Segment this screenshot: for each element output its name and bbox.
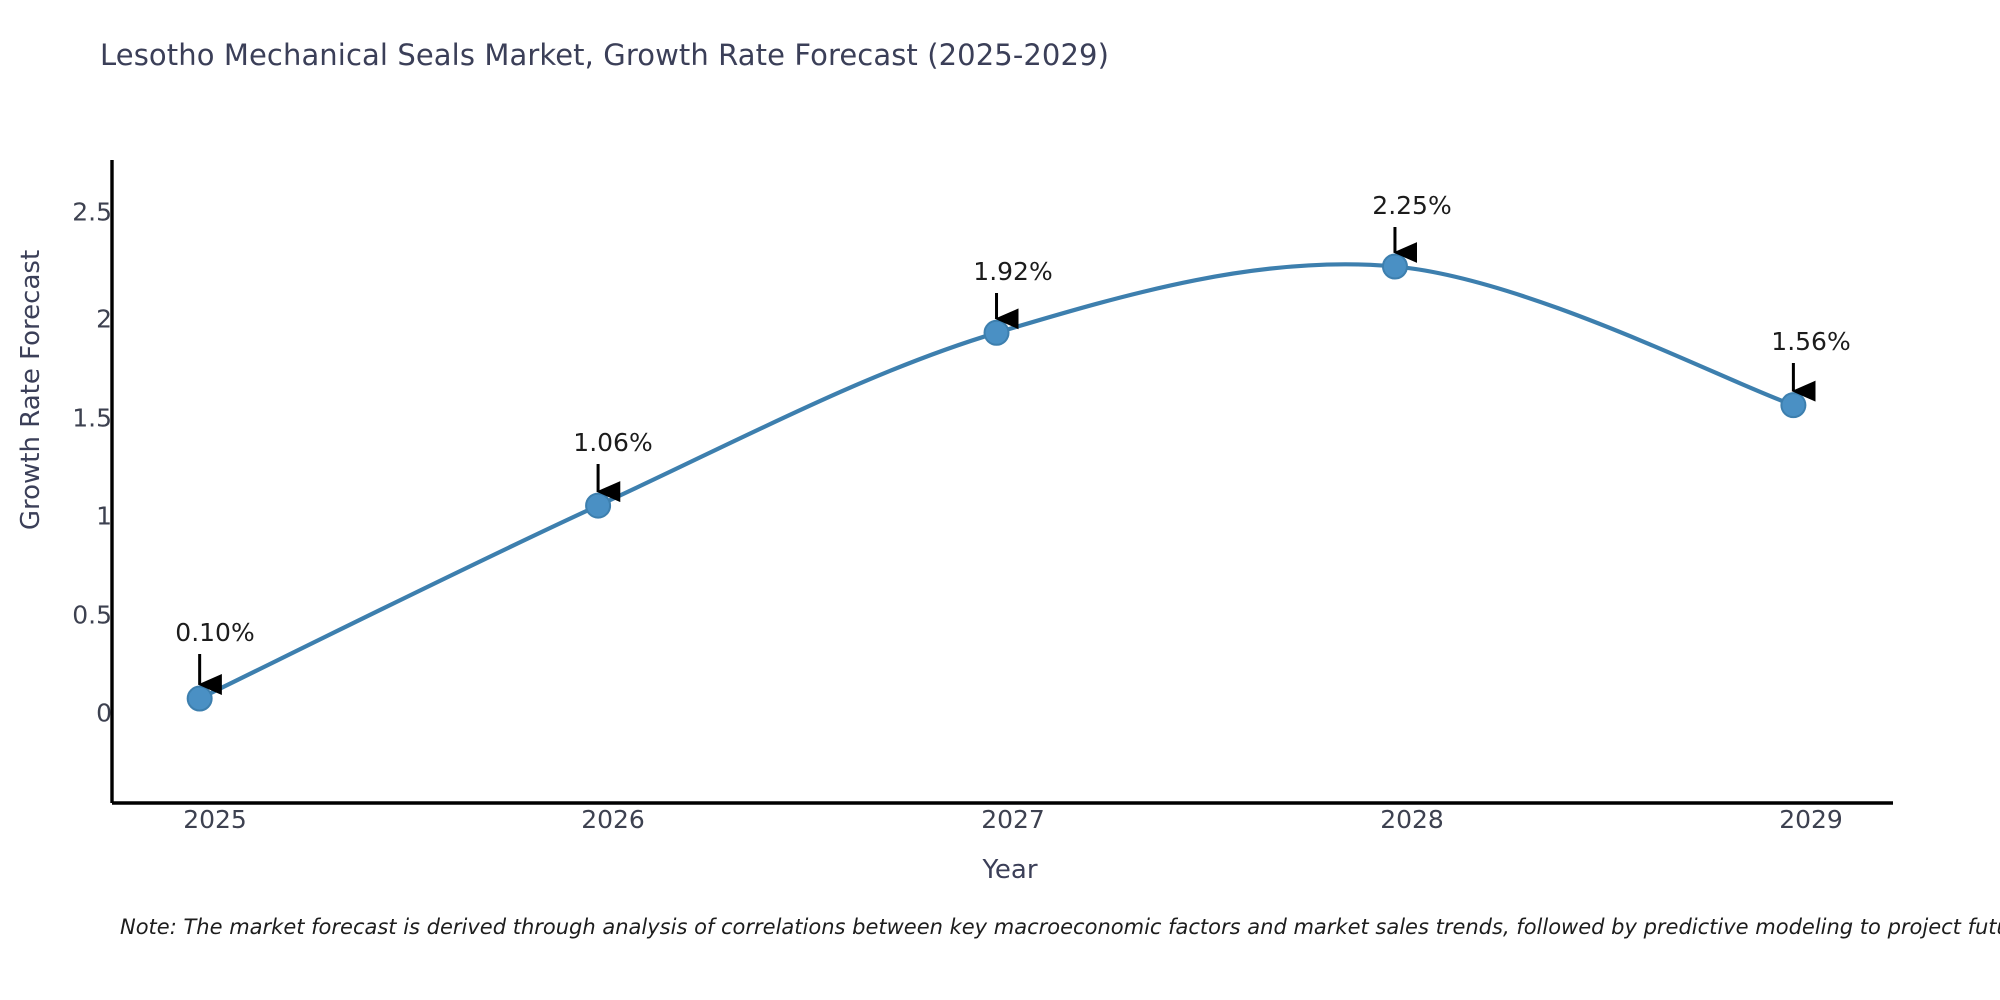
data-point-2029[interactable] xyxy=(1781,393,1805,417)
plot-area xyxy=(0,0,2000,1000)
series-markers xyxy=(188,255,1806,711)
data-point-2026[interactable] xyxy=(586,494,610,518)
data-label-2025: 0.10% xyxy=(175,618,254,647)
chart-figure: Lesotho Mechanical Seals Market, Growth … xyxy=(0,0,2000,1000)
data-label-2027: 1.92% xyxy=(973,257,1052,286)
data-point-2027[interactable] xyxy=(985,321,1009,345)
footnote-text: Note: The market forecast is derived thr… xyxy=(120,915,2000,939)
data-point-2028[interactable] xyxy=(1383,255,1407,279)
data-label-2029: 1.56% xyxy=(1771,327,1850,356)
annotation-arrows xyxy=(200,227,1794,685)
data-point-2025[interactable] xyxy=(188,687,212,711)
data-label-2028: 2.25% xyxy=(1372,191,1451,220)
data-label-2026: 1.06% xyxy=(573,428,652,457)
